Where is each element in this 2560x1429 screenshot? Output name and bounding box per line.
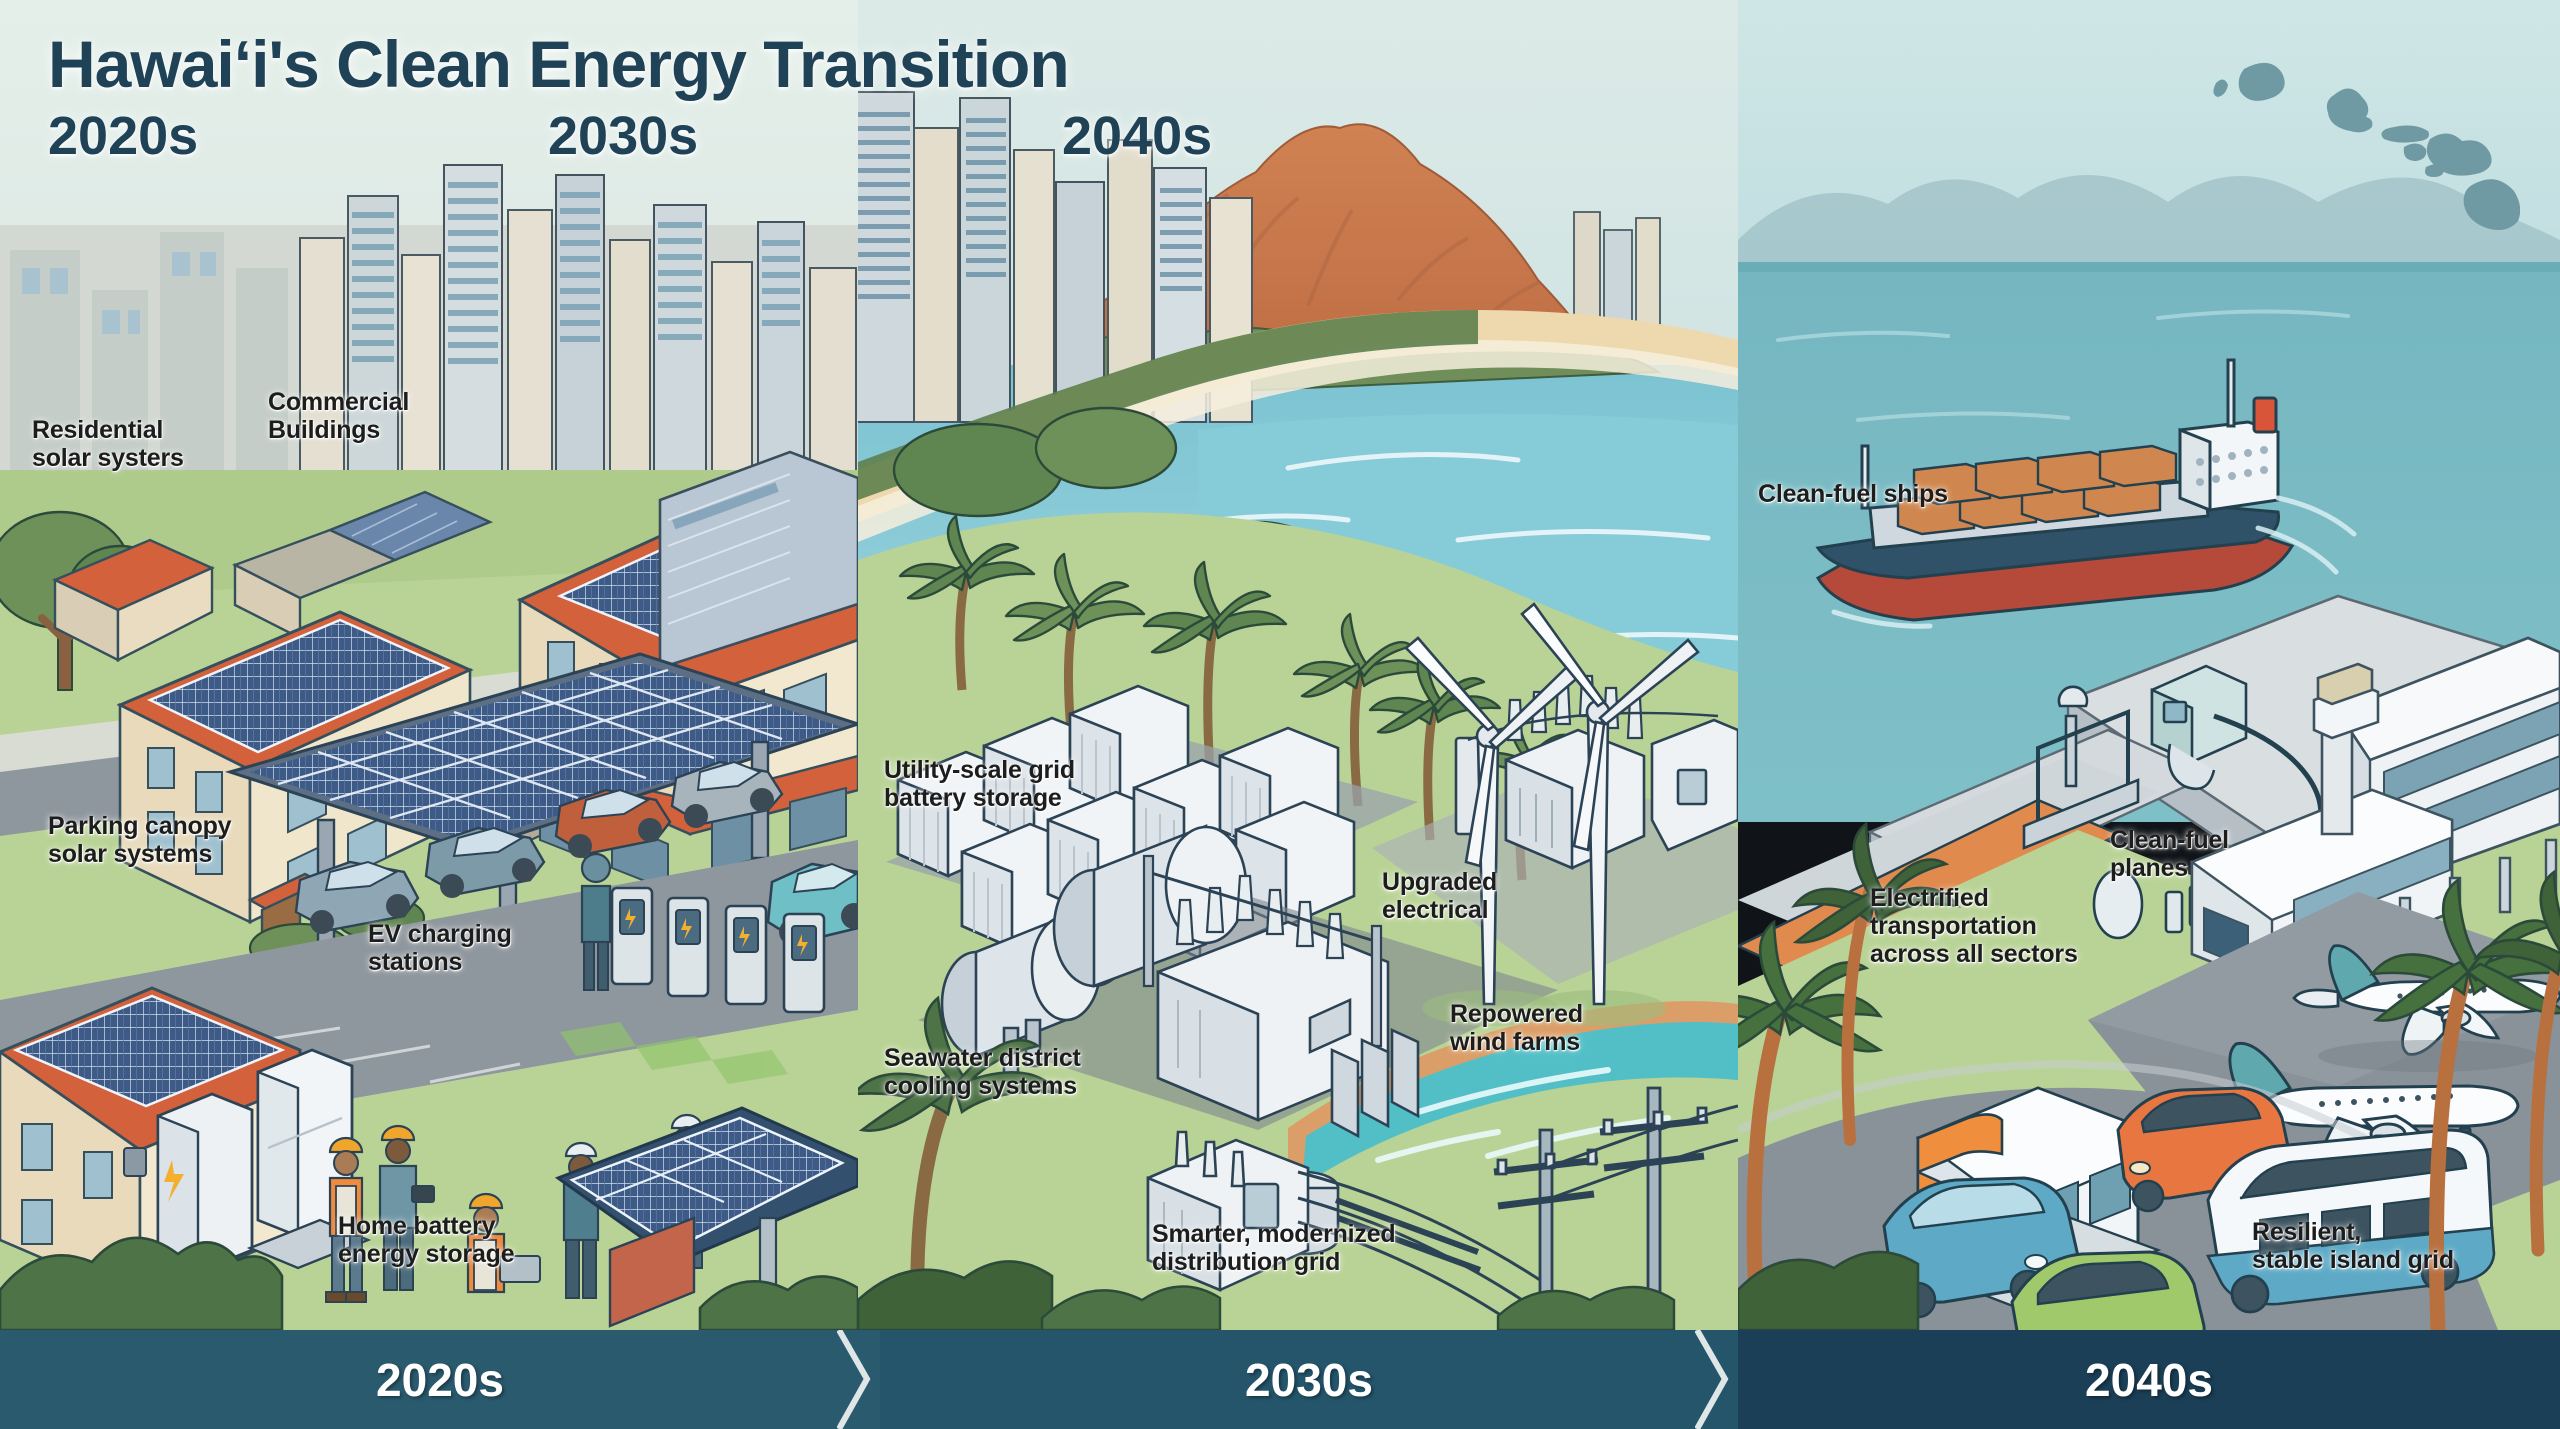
callout-resilient-island-grid: Resilient,stable island grid [2252,1218,2454,1274]
callout-upgraded-electrical: Upgradedelectrical [1382,868,1497,924]
timeline-banner: 2020s 2030s 2040s [0,1330,2560,1429]
callout-repowered-wind-farms: Repoweredwind farms [1450,1000,1583,1056]
panel-heading-2020s: 2020s [48,105,198,167]
callout-modernized-distribution-grid: Smarter, modernizeddistribution grid [1152,1220,1396,1276]
panel-2030s-artwork [858,0,1738,1330]
timeline-segment-2040s[interactable]: 2040s [1738,1330,2560,1429]
callout-home-battery-storage: Home batteryenergy storage [338,1212,514,1268]
callout-clean-fuel-planes: Clean-fuelplanes [2110,826,2229,882]
panel-2020s [0,0,858,1330]
timeline-label-2040s: 2040s [2085,1353,2213,1407]
panel-2030s [858,0,1738,1330]
callout-residential-solar: Residentialsolar systers [32,416,184,472]
timeline-label-2020s: 2020s [376,1353,504,1407]
chevron-divider-icon-2 [1695,1330,1739,1429]
callout-utility-battery-storage: Utility-scale gridbattery storage [884,756,1075,812]
callout-electrified-transportation: Electrifiedtransportationacross all sect… [1870,884,2078,968]
timeline-label-2030s: 2030s [1245,1353,1373,1407]
timeline-segment-2020s[interactable]: 2020s [0,1330,880,1429]
panel-2020s-artwork [0,0,858,1330]
callout-parking-canopy-solar: Parking canopysolar systems [48,812,231,868]
chevron-divider-icon-1 [837,1330,881,1429]
panel-heading-2040s: 2040s [1062,105,1212,167]
infographic-canvas: Hawaiʻi's Clean Energy Transition 2020s … [0,0,2560,1429]
page-title: Hawaiʻi's Clean Energy Transition [48,26,1069,102]
panel-heading-2030s: 2030s [548,105,698,167]
callout-clean-fuel-ships: Clean-fuel ships [1758,480,1948,508]
callout-commercial-buildings: CommercialBuildings [268,388,409,444]
timeline-segment-2030s[interactable]: 2030s [880,1330,1738,1429]
callout-seawater-district-cooling: Seawater districtcooling systems [884,1044,1081,1100]
callout-ev-charging-stations: EV chargingstations [368,920,512,976]
hawaii-islands-map [2190,25,2520,230]
